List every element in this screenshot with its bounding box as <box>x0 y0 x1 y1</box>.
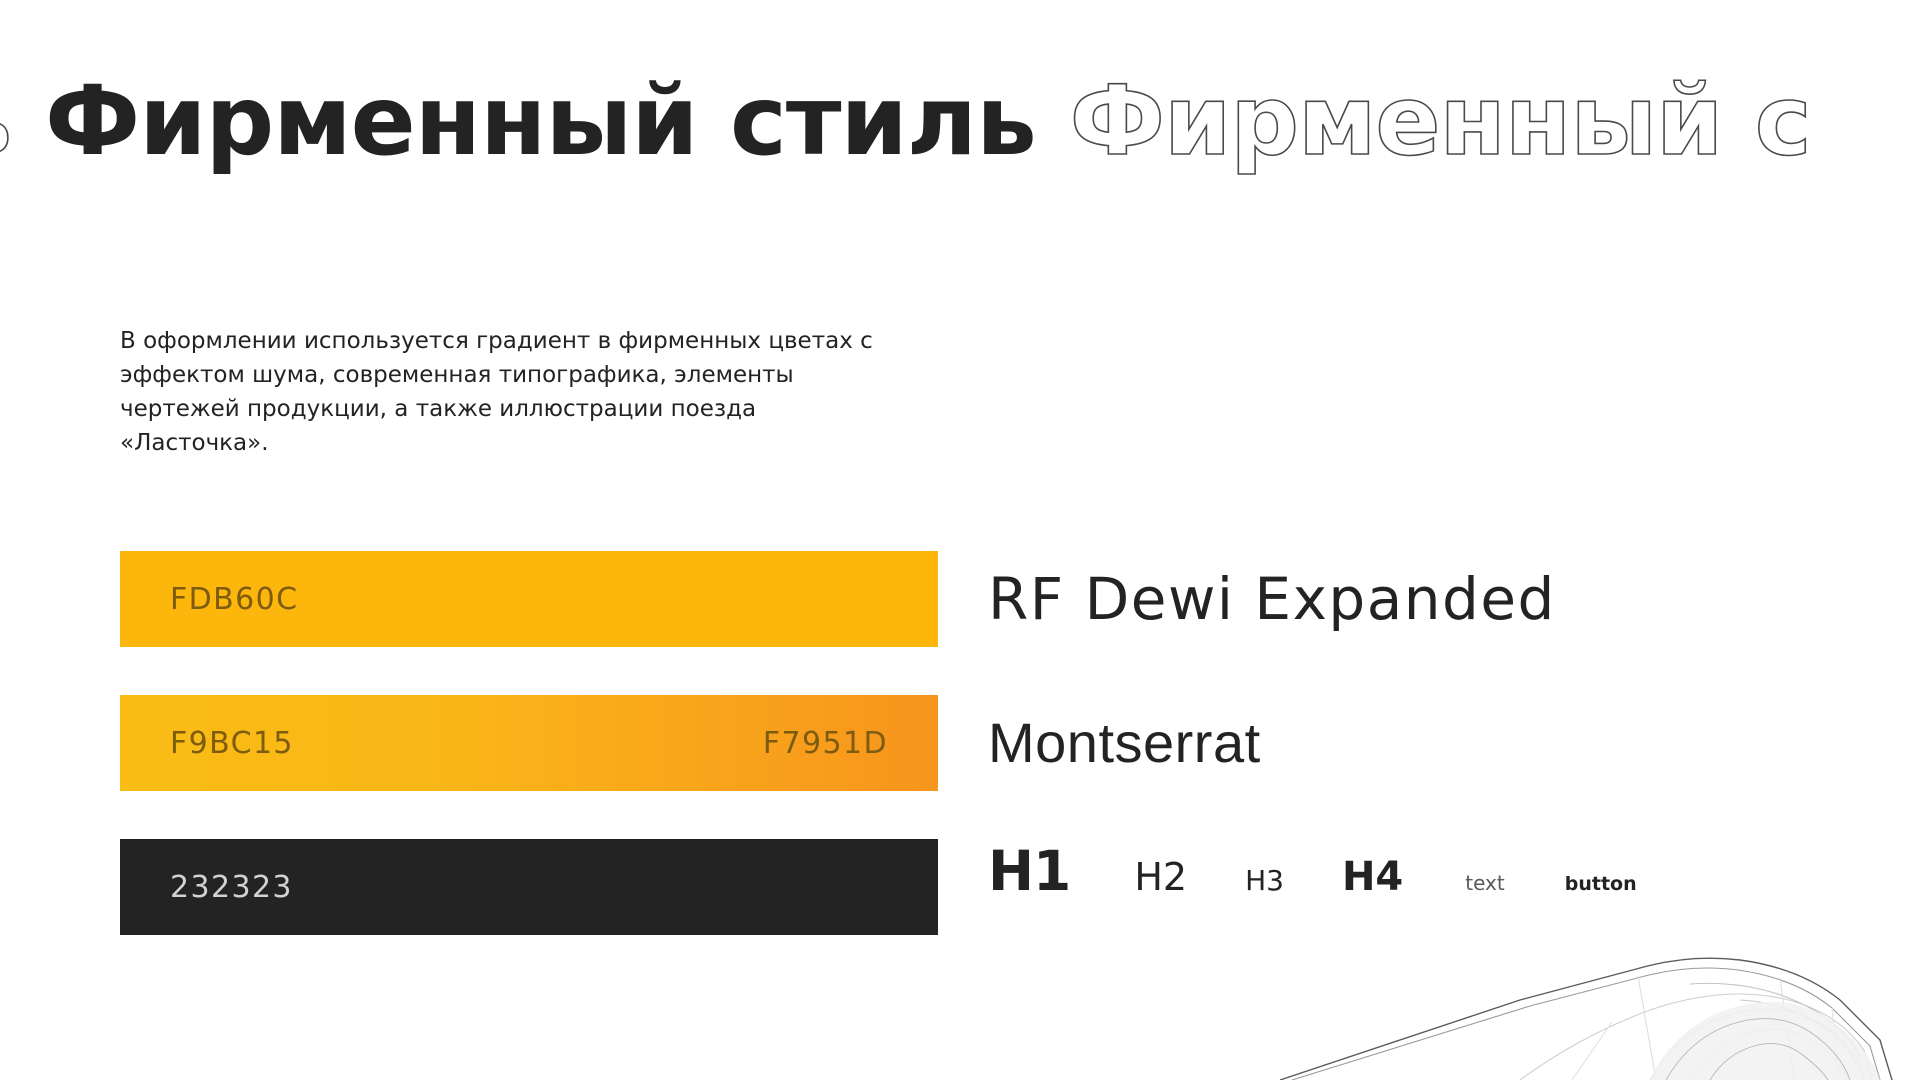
secondary-font-name: Montserrat <box>988 695 1868 791</box>
marquee-word-partial-left: ль <box>0 73 11 169</box>
typography-block: RF Dewi Expanded Montserrat H1 H2 H3 H4 … <box>988 551 1868 935</box>
color-swatch-dark: 232323 <box>120 839 938 935</box>
description-text: В оформлении используется градиент в фир… <box>120 324 900 460</box>
type-scale-button: button <box>1565 873 1637 895</box>
swatch-label-left: 232323 <box>170 870 293 905</box>
type-scale-h2: H2 <box>1134 855 1187 899</box>
type-scale-h3: H3 <box>1245 864 1284 897</box>
description-block: В оформлении используется градиент в фир… <box>120 324 900 460</box>
type-scale-h1: H1 <box>988 839 1070 903</box>
color-swatch-primary: FDB60C <box>120 551 938 647</box>
color-swatch-gradient: F9BC15 F7951D <box>120 695 938 791</box>
swatch-label-left: F9BC15 <box>170 726 294 761</box>
color-palette: FDB60C F9BC15 F7951D 232323 <box>120 551 938 935</box>
marquee-word-partial-right: Фирменный с <box>1070 73 1811 169</box>
swatch-label-left: FDB60C <box>170 582 298 617</box>
primary-font-name: RF Dewi Expanded <box>988 551 1868 647</box>
swatch-label-right: F7951D <box>763 726 888 761</box>
marquee-title-strip: ль Фирменный стиль Фирменный с <box>0 56 1920 186</box>
type-scale-h4: H4 <box>1342 854 1403 900</box>
type-scale-text: text <box>1465 871 1504 895</box>
page-title: Фирменный стиль <box>45 73 1036 169</box>
marquee-inner: ль Фирменный стиль Фирменный с <box>0 73 1811 169</box>
type-scale-row: H1 H2 H3 H4 text button <box>988 839 1868 935</box>
